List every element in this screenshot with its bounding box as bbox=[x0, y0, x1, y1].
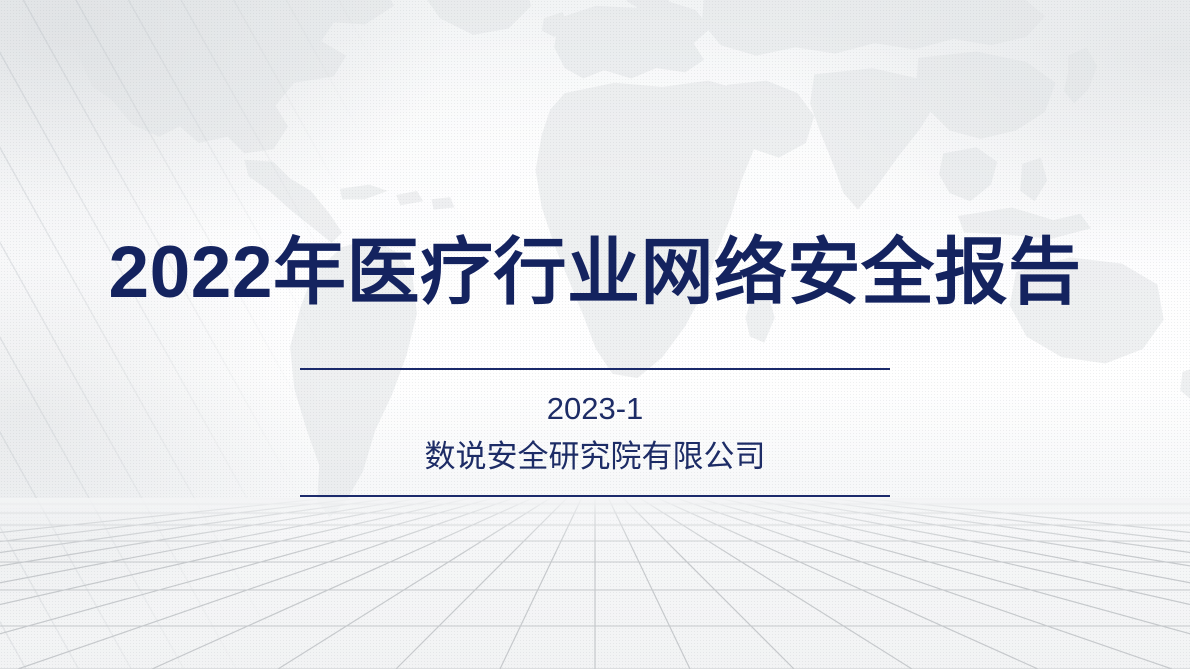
slide-content: 2022年医疗行业网络安全报告 2023-1 数说安全研究院有限公司 bbox=[0, 0, 1190, 669]
page-title: 2022年医疗行业网络安全报告 bbox=[0, 232, 1190, 314]
publication-date: 2023-1 bbox=[300, 387, 890, 431]
rule-bottom bbox=[300, 495, 890, 497]
subtitle-lines: 2023-1 数说安全研究院有限公司 bbox=[300, 370, 890, 495]
subtitle-block: 2023-1 数说安全研究院有限公司 bbox=[300, 368, 890, 497]
title-slide: 2022年医疗行业网络安全报告 2023-1 数说安全研究院有限公司 bbox=[0, 0, 1190, 669]
organization-name: 数说安全研究院有限公司 bbox=[300, 433, 890, 481]
